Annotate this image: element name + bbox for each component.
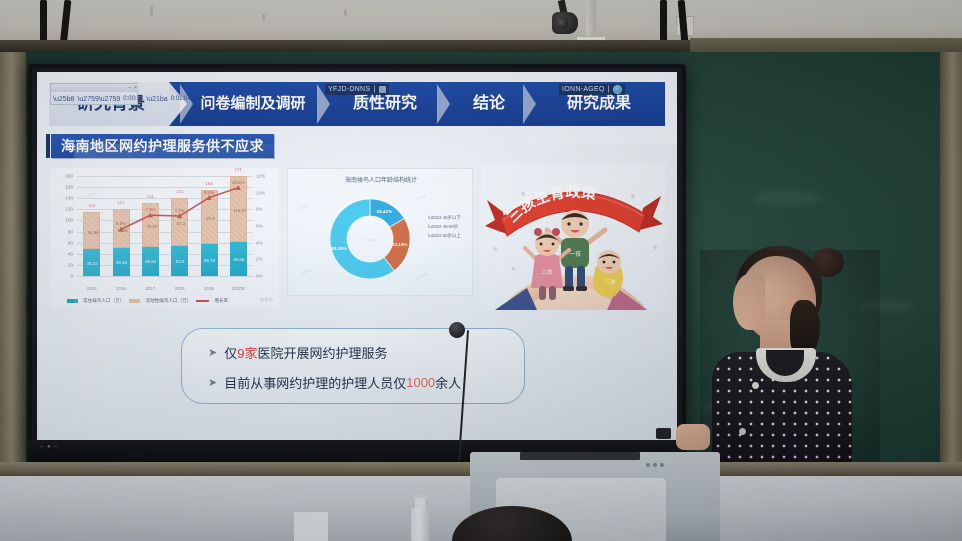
legend-swatch [129,299,140,303]
overlay-code-2: IONN-AGEQ [562,86,605,93]
chart-plot-area: 0204060801001201401601800%2%4%6%8%10%12%… [77,176,253,276]
legend-label: 流动性候鸟人口（万） [145,298,191,304]
donut-legend-item-45to60: \u2022 45-60岁 [428,222,461,231]
lectern-indicator-lights [646,463,682,467]
player-elapsed: 0:00:31 [123,96,143,102]
overlay-divider: | [373,86,375,93]
chart-y-tick-left: 160 [57,185,73,190]
chalk-smudge [860,300,914,312]
donut-center-watermark: \u25cb [322,191,418,287]
svg-text:二孩: 二孩 [541,268,553,276]
nav-item-questionnaire[interactable]: 问卷编制及调研 [195,82,311,126]
bullet-2-text-post: 余人 [435,373,461,392]
legend-swatch [67,299,78,303]
donut-legend-dash: \u2022 [428,215,441,220]
bullet-1-text-post: 医院开展网约护理服务 [257,343,387,362]
chalkboard-frame-left [0,52,26,472]
chart-legend: 常住候鸟人口（万）流动性候鸟人口（万）增长率 [67,298,267,304]
presenter-dress-button [752,382,759,389]
microphone-head-icon[interactable] [449,322,465,338]
chart-x-tick: 2018 [165,286,195,291]
donut-legend-dash: \u2022 [428,224,441,229]
chart-y-tick-right: 8% [256,207,272,212]
presentation-clicker[interactable] [656,428,671,439]
chart-x-tick: 2016 [106,286,136,291]
legend-label: 增长率 [214,298,228,304]
presentation-slide[interactable]: 研究背景 问卷编制及调研 质性研究 结论 研究成果 海南地区网约护理服务供不应求… [37,72,677,444]
bullet-row-1: ➤ 仅 9家 医院开展网约护理服务 [208,343,387,362]
bullet-2-text-pre: 目前从事网约护理的护理人员仅 [224,373,406,392]
chart-y-tick-left: 80 [57,229,73,234]
player-total: 0:01:04 [171,96,191,102]
indicator-dot [653,463,657,467]
nav-chevron-divider-3 [437,84,450,124]
chart-y-tick-right: 12% [256,174,272,179]
donut-slice-label-over60: 60.39% [331,246,347,251]
donut-legend: \u2022 45岁以下 \u2022 45-60岁 \u2022 60岁以上 [428,213,461,240]
chart-y-tick-right: 10% [256,190,272,195]
section-title: 海南地区网约护理服务供不应求 [51,134,274,158]
bullet-row-2: ➤ 目前从事网约护理的护理人员仅 1000 余人 [208,373,461,392]
donut-watermark: \u25cb [300,267,313,276]
age-structure-donut-chart: 海南候鸟人口年龄结构统计 \u25cb \u25cb \u25cb \u25cb… [287,168,473,296]
chart-y-tick-right: 6% [256,224,272,229]
donut-watermark: \u25cb [296,203,309,212]
donut-legend-item-under45: \u2022 45岁以下 [428,213,461,222]
chart-growth-line [77,176,253,276]
chart-y-tick-left: 120 [57,207,73,212]
legend-swatch [196,300,209,302]
screen-overlay-tag-1: YFJD-DNNS | [325,84,389,95]
hand-sanitizer-bottle[interactable] [411,508,429,541]
screen-share-icon[interactable] [379,86,386,93]
donut-legend-item-over60: \u2022 60岁以上 [428,231,461,240]
wall-mark [262,14,265,21]
three-child-policy-illustration: 三孩生育政策 [481,164,665,310]
donut-legend-dash: \u2022 [428,233,441,238]
globe-icon[interactable] [613,85,622,94]
control-panel-strip[interactable] [520,452,640,460]
chart-y-tick-right: 4% [256,240,272,245]
chart-x-tick: 2017 [135,286,165,291]
bullet-1-highlight: 9家 [237,343,257,362]
indicator-dot [660,463,664,467]
close-icon[interactable]: × [134,85,137,91]
overlay-code-1: YFJD-DNNS [328,86,370,93]
media-player-overlay[interactable]: – × \u25b8 \u2759\u2759 0:00:31 \u21ba 0… [50,83,138,105]
chart-bar-total: 171 [221,167,255,172]
chart-y-tick-left: 100 [57,218,73,223]
pause-icon[interactable]: \u2759\u2759 [77,96,120,103]
screen-overlay-tag-2: IONN-AGEQ | [559,84,625,95]
nav-item-conclusion[interactable]: 结论 [453,82,525,126]
bullet-arrow-icon: ➤ [208,346,217,359]
donut-ring: \u25cb [322,191,418,287]
player-title-bar[interactable]: – × [51,84,139,92]
chart-x-tick: 2015 [77,286,107,291]
nav-chevron-divider-4 [523,84,536,124]
chart-y-tick-left: 180 [57,174,73,179]
svg-text:三孩: 三孩 [604,278,616,286]
classroom-scene: 研究背景 问卷编制及调研 质性研究 结论 研究成果 海南地区网约护理服务供不应求… [0,0,962,541]
smartboard-brand-label: – ● – [40,444,59,450]
presenter-dress-button [739,428,746,435]
donut-slice-label-45to60: 23.19% [392,242,408,247]
donut-legend-label: 45-60岁 [443,224,459,229]
population-growth-chart: \u25cb 0204060801001201401601800%2%4%6%8… [51,168,279,308]
player-controls[interactable]: \u25b8 \u2759\u2759 0:00:31 \u21ba 0:01:… [53,93,137,105]
chart-y-tick-right: 0% [256,274,272,279]
donut-legend-label: 60岁以上 [443,233,461,238]
chart-y-tick-left: 60 [57,240,73,245]
section-title-accent [46,134,50,158]
indicator-dot [646,463,650,467]
donut-slice-label-under45: 16.42% [377,209,393,214]
play-icon[interactable]: \u25b8 [53,96,74,103]
wall-mark [344,10,347,16]
chalkboard-frame-right [940,52,962,472]
donut-chart-title: 海南候鸟人口年龄结构统计 [288,175,474,184]
bullet-1-text-pre: 仅 [224,343,237,362]
chart-y-tick-left: 140 [57,196,73,201]
chart-x-tick: 2019 [194,286,224,291]
minimize-button[interactable]: – [128,85,131,91]
illustration-artwork: 三孩生育政策 [481,164,665,310]
chart-source-watermark: 数据图 [260,297,273,303]
smartboard-screen[interactable]: 研究背景 问卷编制及调研 质性研究 结论 研究成果 海南地区网约护理服务供不应求… [37,72,677,444]
legend-label: 常住候鸟人口（万） [83,298,124,304]
chart-y-tick-right: 2% [256,257,272,262]
chart-y-tick-left: 0 [57,274,73,279]
chart-gridline [77,276,253,277]
chart-y-tick-left: 20 [57,262,73,267]
nav-chevron-divider-1 [180,84,193,124]
chalk-smudge [752,190,822,206]
svg-text:一孩: 一孩 [569,250,581,258]
presenter-hair-bun [812,248,844,277]
key-findings-box: ➤ 仅 9家 医院开展网约护理服务 ➤ 目前从事网约护理的护理人员仅 1000 … [181,328,525,404]
chart-y-tick-left: 40 [57,251,73,256]
papers-on-desk [294,512,328,541]
overlay-divider: | [608,86,610,93]
camera-lens-icon [556,17,568,29]
donut-legend-label: 45岁以下 [443,215,461,220]
chart-x-tick: 2020E [223,286,253,291]
loop-icon[interactable]: \u21ba [146,96,167,103]
bullet-2-highlight: 1000 [406,375,435,390]
wall-mark [150,6,153,16]
bullet-arrow-icon: ➤ [208,376,217,389]
presenter-hand [676,424,710,450]
